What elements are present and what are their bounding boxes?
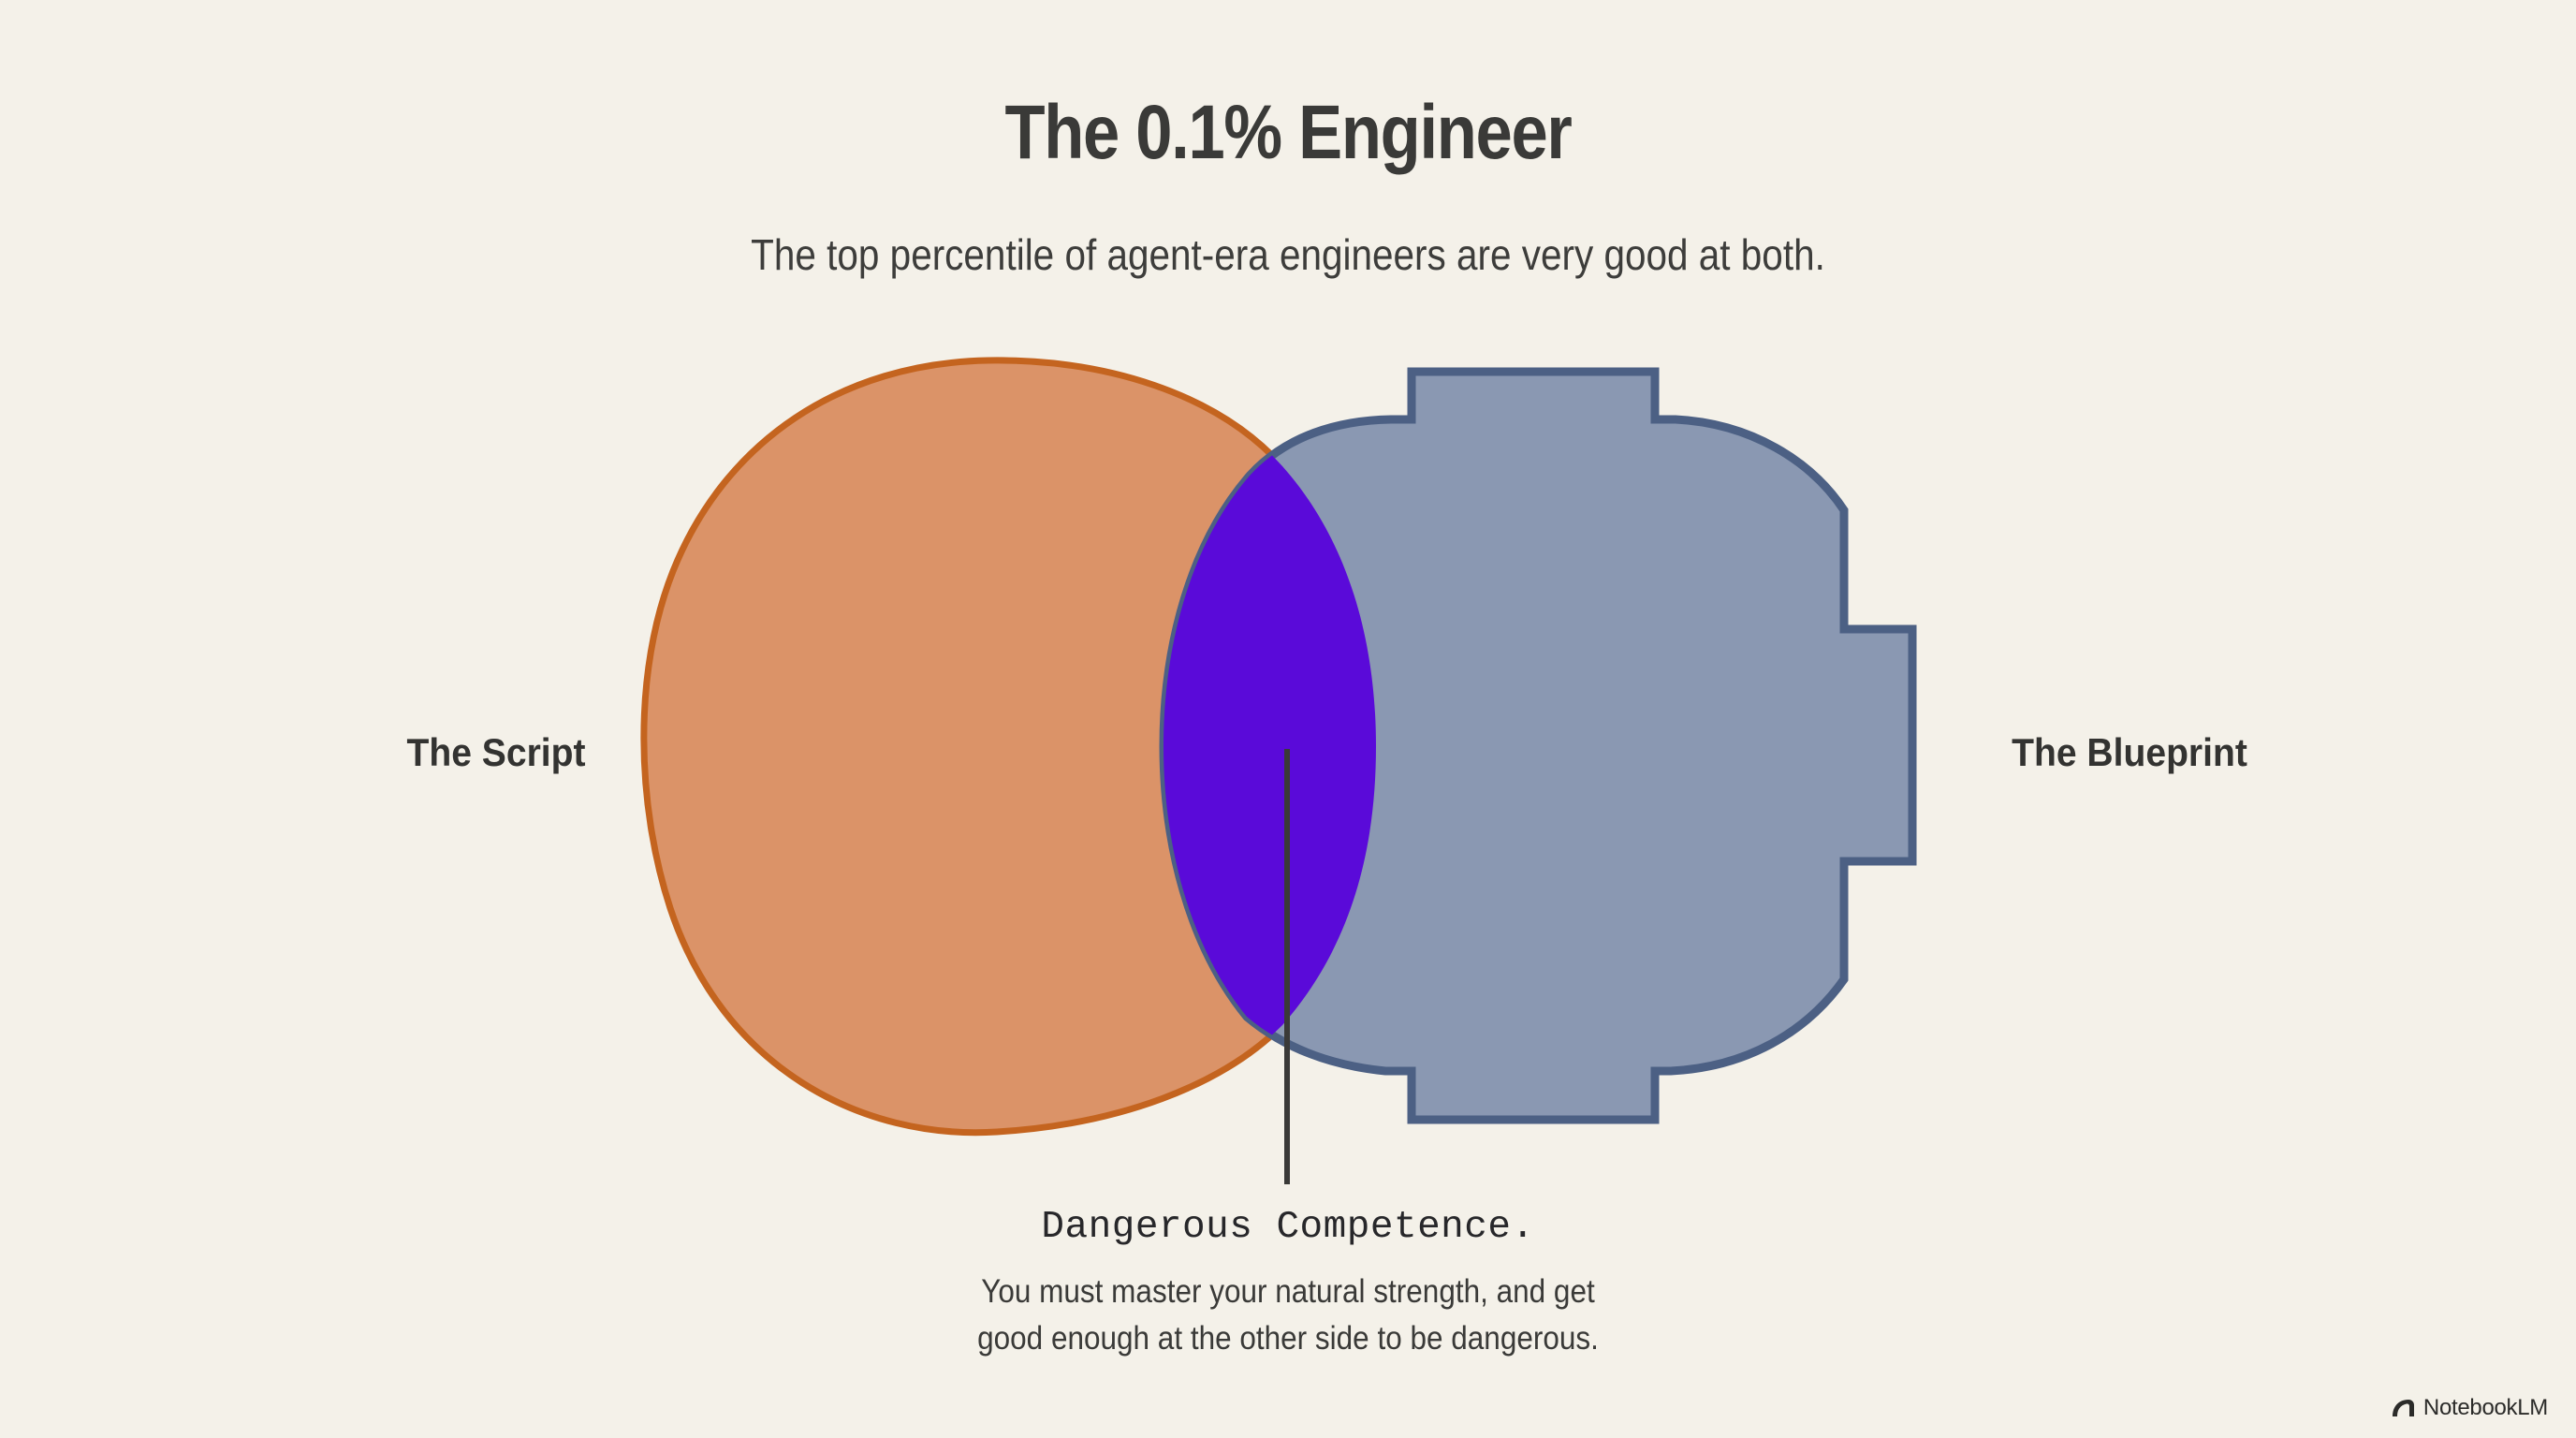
callout-body: You must master your natural strength, a… (0, 1269, 2576, 1362)
infographic-canvas: The 0.1% Engineer The top percentile of … (0, 0, 2576, 1438)
watermark: NotebookLM (2391, 1395, 2548, 1421)
callout-heading: Dangerous Competence. (0, 1206, 2576, 1249)
venn-left-label: The Script (383, 730, 609, 775)
callout-body-line-2: good enough at the other side to be dang… (129, 1315, 2448, 1362)
callout-body-line-1: You must master your natural strength, a… (129, 1269, 2448, 1315)
notebooklm-spiral-icon (2391, 1398, 2415, 1418)
watermark-label: NotebookLM (2423, 1395, 2548, 1421)
venn-right-label: The Blueprint (1982, 730, 2277, 775)
